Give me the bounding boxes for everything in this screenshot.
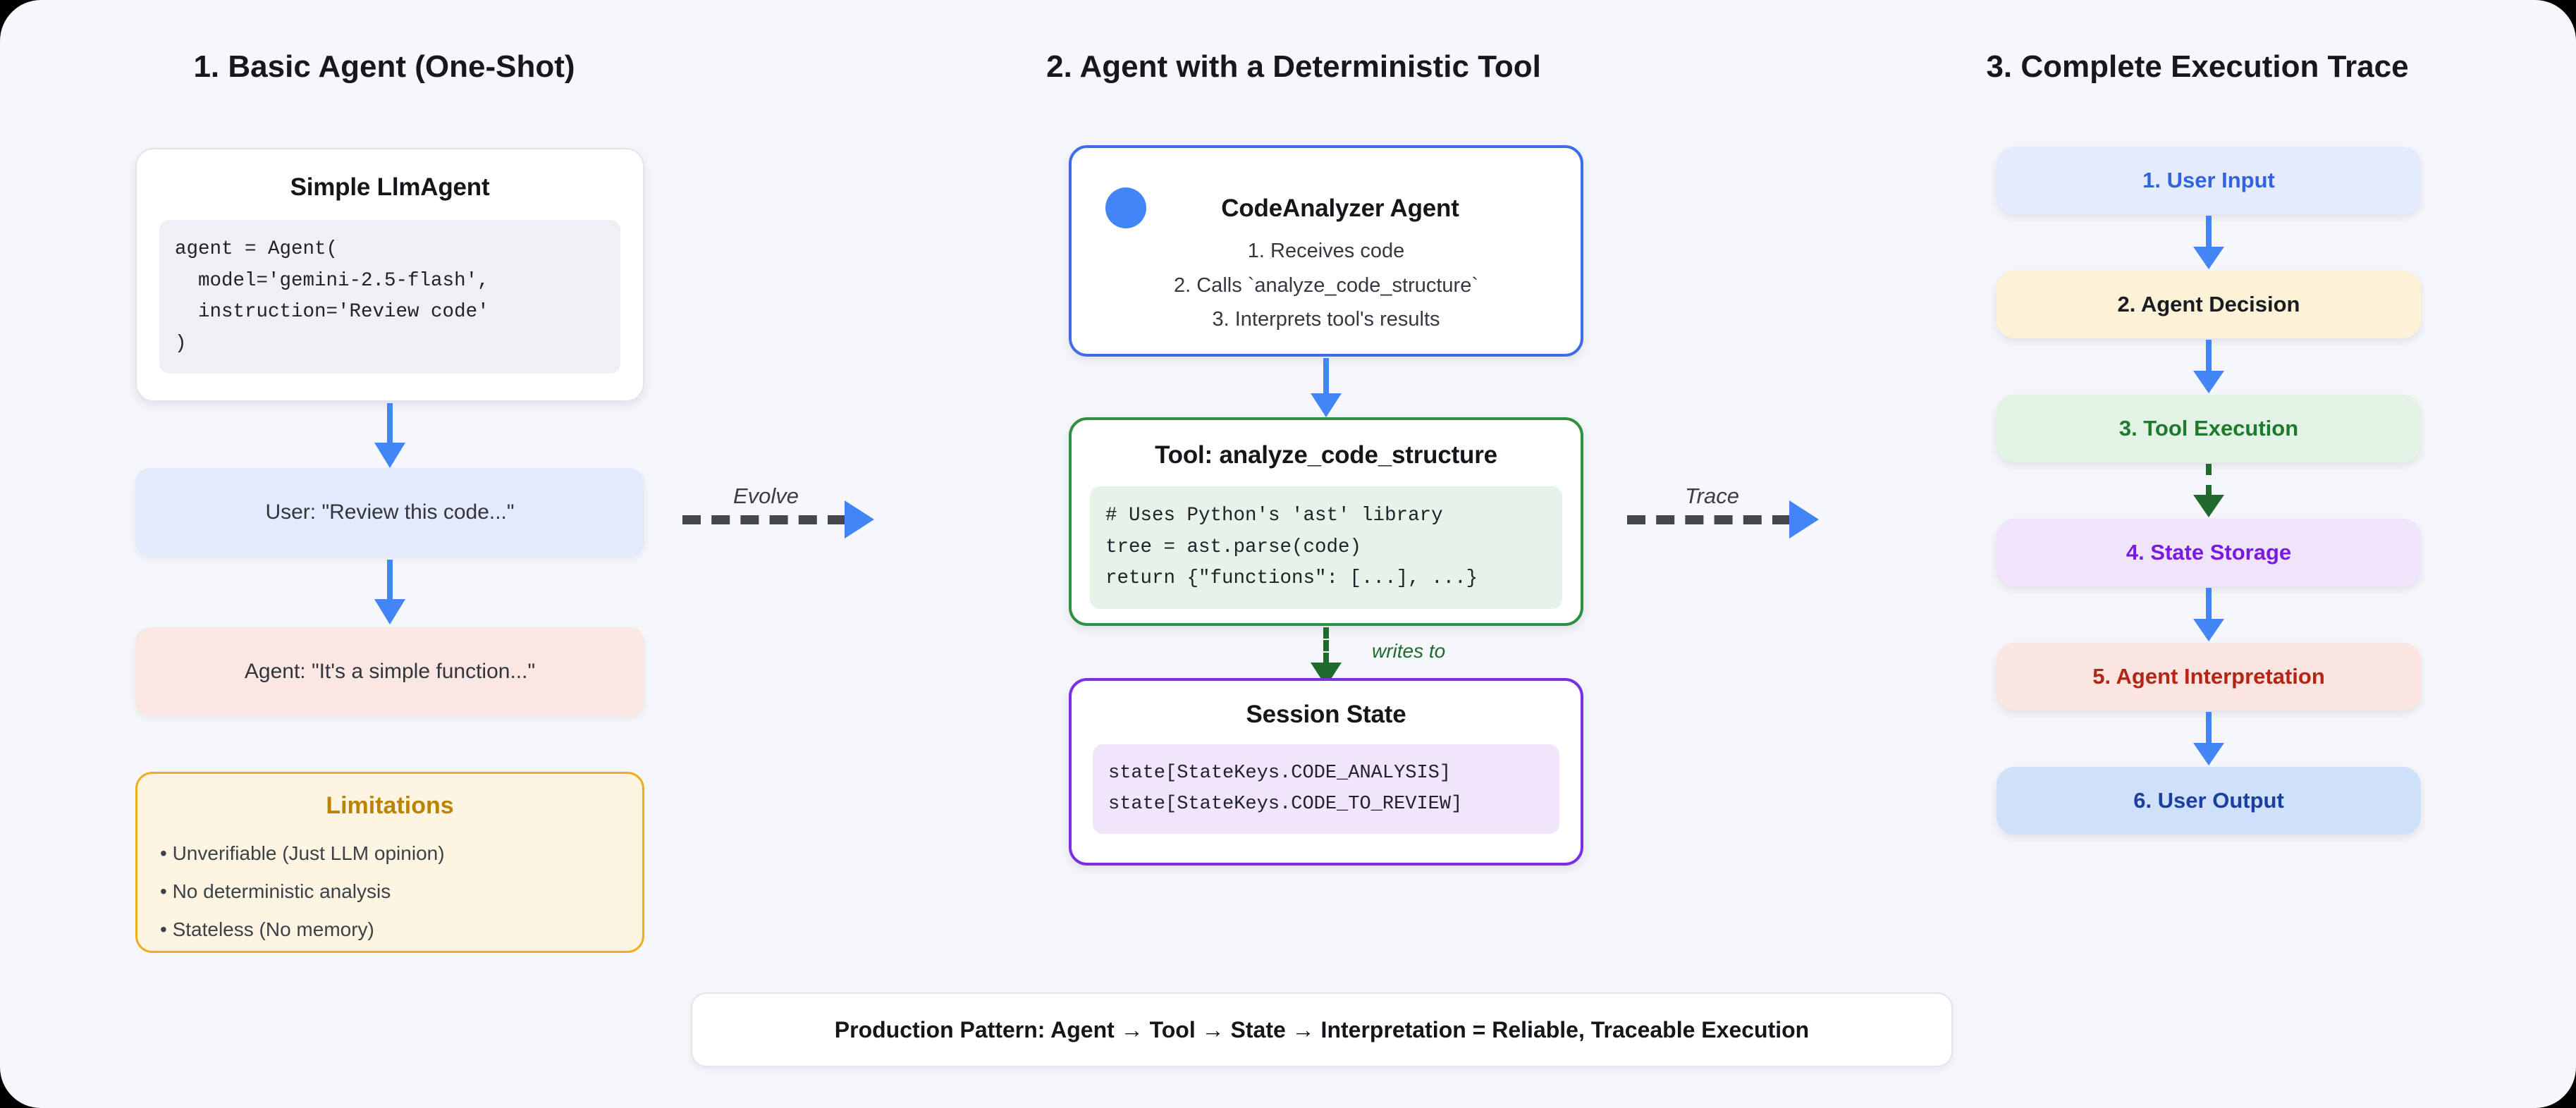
tool-card-title: Tool: analyze_code_structure bbox=[1072, 441, 1581, 469]
column-1-title: 1. Basic Agent (One-Shot) bbox=[0, 49, 768, 85]
tool-card[interactable]: Tool: analyze_code_structure # Uses Pyth… bbox=[1069, 417, 1583, 626]
codeanalyzer-step: 2. Calls `analyze_code_structure` bbox=[1072, 269, 1581, 303]
production-pattern-text: Production Pattern: Agent → Tool → State… bbox=[835, 1017, 1809, 1043]
trace-arrowhead bbox=[1789, 500, 1819, 538]
evolve-dash-line bbox=[682, 515, 846, 524]
trace-step-5[interactable]: 5. Agent Interpretation bbox=[1997, 643, 2421, 710]
arrow-step3-to-step4 bbox=[2181, 464, 2237, 517]
arrow-user-to-agent bbox=[362, 560, 418, 624]
simple-llmagent-title: Simple LlmAgent bbox=[137, 173, 643, 202]
limitation-item: • No deterministic analysis bbox=[160, 882, 642, 901]
writes-to-label: writes to bbox=[1372, 640, 1445, 663]
trace-step-3[interactable]: 3. Tool Execution bbox=[1997, 395, 2421, 462]
trace-step-label: 3. Tool Execution bbox=[2119, 416, 2298, 441]
production-pattern-banner: Production Pattern: Agent → Tool → State… bbox=[691, 992, 1953, 1067]
arrow-agentcard-to-user bbox=[362, 403, 418, 468]
trace-step-4[interactable]: 4. State Storage bbox=[1997, 519, 2421, 586]
session-state-card[interactable]: Session State state[StateKeys.CODE_ANALY… bbox=[1069, 678, 1583, 866]
limitations-list: • Unverifiable (Just LLM opinion) • No d… bbox=[160, 844, 642, 940]
trace-step-2[interactable]: 2. Agent Decision bbox=[1997, 271, 2421, 338]
column-3-title: 3. Complete Execution Trace bbox=[1819, 49, 2576, 85]
trace-step-label: 1. User Input bbox=[2142, 168, 2275, 193]
arrow-step1-to-step2 bbox=[2181, 216, 2237, 269]
agent-status-dot bbox=[1105, 187, 1146, 228]
user-message-bubble[interactable]: User: "Review this code..." bbox=[135, 468, 644, 557]
arrow-step2-to-step3 bbox=[2181, 340, 2237, 393]
trace-step-6[interactable]: 6. User Output bbox=[1997, 767, 2421, 835]
trace-dash-line bbox=[1627, 515, 1791, 524]
column-2-title: 2. Agent with a Deterministic Tool bbox=[768, 49, 1819, 85]
simple-llmagent-card[interactable]: Simple LlmAgent agent = Agent( model='ge… bbox=[135, 148, 644, 402]
user-message-text: User: "Review this code..." bbox=[265, 500, 514, 524]
evolve-arrowhead bbox=[845, 500, 874, 538]
trace-step-label: 6. User Output bbox=[2133, 788, 2284, 813]
codeanalyzer-agent-card[interactable]: CodeAnalyzer Agent 1. Receives code 2. C… bbox=[1069, 145, 1583, 357]
session-state-title: Session State bbox=[1072, 701, 1581, 729]
codeanalyzer-steps: 1. Receives code 2. Calls `analyze_code_… bbox=[1072, 234, 1581, 337]
evolve-label: Evolve bbox=[733, 484, 799, 509]
codeanalyzer-step: 3. Interprets tool's results bbox=[1072, 302, 1581, 337]
trace-step-label: 5. Agent Interpretation bbox=[2092, 664, 2325, 689]
trace-step-label: 2. Agent Decision bbox=[2118, 292, 2300, 317]
agent-code-block: agent = Agent( model='gemini-2.5-flash',… bbox=[159, 220, 620, 374]
limitation-item: • Stateless (No memory) bbox=[160, 920, 642, 940]
limitations-title: Limitations bbox=[137, 792, 642, 820]
limitation-item: • Unverifiable (Just LLM opinion) bbox=[160, 844, 642, 863]
session-state-code-block: state[StateKeys.CODE_ANALYSIS] state[Sta… bbox=[1093, 744, 1559, 834]
diagram-canvas: 1. Basic Agent (One-Shot) 2. Agent with … bbox=[0, 0, 2576, 1108]
agent-message-text: Agent: "It's a simple function..." bbox=[245, 660, 535, 684]
codeanalyzer-agent-title: CodeAnalyzer Agent bbox=[1100, 195, 1581, 223]
limitations-card: Limitations • Unverifiable (Just LLM opi… bbox=[135, 772, 644, 953]
trace-step-1[interactable]: 1. User Input bbox=[1997, 147, 2421, 214]
trace-label: Trace bbox=[1685, 484, 1739, 509]
arrow-agent-to-tool bbox=[1298, 358, 1354, 417]
tool-code-block: # Uses Python's 'ast' library tree = ast… bbox=[1090, 486, 1562, 609]
arrow-step5-to-step6 bbox=[2181, 712, 2237, 765]
arrow-step4-to-step5 bbox=[2181, 588, 2237, 641]
trace-step-label: 4. State Storage bbox=[2126, 540, 2291, 565]
agent-message-bubble[interactable]: Agent: "It's a simple function..." bbox=[135, 627, 644, 716]
codeanalyzer-step: 1. Receives code bbox=[1072, 234, 1581, 269]
